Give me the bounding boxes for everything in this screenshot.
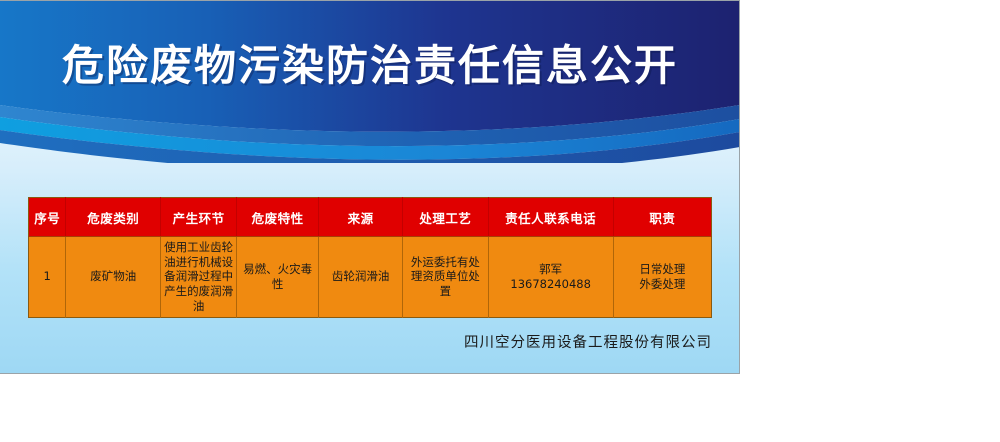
cell-characteristics: 易燃、火灾毒性 [237,237,319,318]
contact-name: 郭军 [492,262,610,277]
duty-line-1: 日常处理 [617,262,708,277]
column-header-source: 来源 [319,198,403,237]
company-name: 四川空分医用设备工程股份有限公司 [0,331,712,352]
column-header-treatment: 处理工艺 [403,198,488,237]
poster: 危险废物污染防治责任信息公开 序号 危废类别 产生环节 危废特性 [0,0,740,374]
cell-index: 1 [29,237,66,318]
table-header-row: 序号 危废类别 产生环节 危废特性 来源 处理工艺 责任人联系电话 职责 [29,198,712,237]
column-header-characteristics: 危废特性 [237,198,319,237]
banner-wave-graphic [0,1,740,163]
column-header-stage: 产生环节 [161,198,237,237]
cell-duties: 日常处理 外委处理 [613,237,711,318]
hazardous-waste-table: 序号 危废类别 产生环节 危废特性 来源 处理工艺 责任人联系电话 职责 1 废… [28,197,712,318]
cell-source: 齿轮润滑油 [319,237,403,318]
table-row: 1 废矿物油 使用工业齿轮油进行机械设备润滑过程中产生的废润滑油 易燃、火灾毒性… [29,237,712,318]
column-header-contact: 责任人联系电话 [488,198,613,237]
cell-generation-stage: 使用工业齿轮油进行机械设备润滑过程中产生的废润滑油 [161,237,237,318]
column-header-category: 危废类别 [66,198,161,237]
cell-category: 废矿物油 [66,237,161,318]
column-header-index: 序号 [29,198,66,237]
column-header-duties: 职责 [613,198,711,237]
contact-phone: 13678240488 [492,277,610,292]
cell-treatment: 外运委托有处理资质单位处置 [403,237,488,318]
duty-line-2: 外委处理 [617,277,708,292]
hazardous-waste-table-wrap: 序号 危废类别 产生环节 危废特性 来源 处理工艺 责任人联系电话 职责 1 废… [28,197,712,318]
cell-contact: 郭军 13678240488 [488,237,613,318]
banner-header: 危险废物污染防治责任信息公开 [0,1,740,163]
